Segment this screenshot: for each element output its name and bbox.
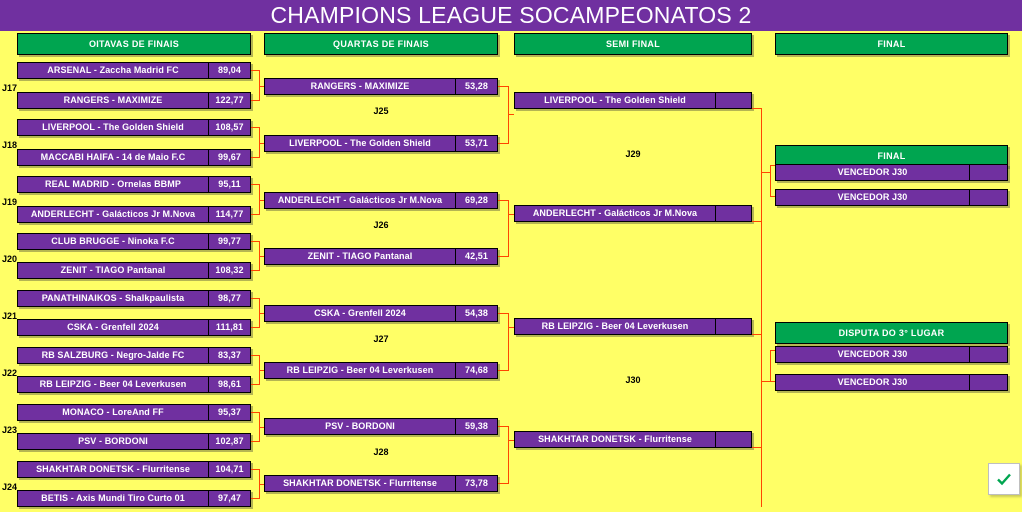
team-score: 122,77 — [208, 93, 250, 108]
match-row[interactable]: MACCABI HAIFA - 14 de Maio F.C 99,67 — [17, 149, 251, 166]
team-name: CSKA - Grenfell 2024 — [18, 320, 208, 335]
tie-label-j30: J30 — [514, 375, 752, 386]
tie-label-j28: J28 — [264, 447, 498, 458]
team-name: RANGERS - MAXIMIZE — [265, 79, 455, 94]
tie-label-j17: J17 — [2, 83, 17, 94]
team-name: SHAKHTAR DONETSK - Flurritense — [265, 476, 455, 491]
match-row[interactable]: RB LEIPZIG - Beer 04 Leverkusen — [514, 318, 752, 335]
tie-label-j26: J26 — [264, 220, 498, 231]
connector — [508, 86, 509, 144]
match-row[interactable]: RANGERS - MAXIMIZE 53,28 — [264, 78, 498, 95]
team-score: 99,67 — [208, 150, 250, 165]
match-row[interactable]: LIVERPOOL - The Golden Shield 53,71 — [264, 135, 498, 152]
connector — [770, 172, 771, 196]
team-score: 69,28 — [455, 193, 497, 208]
match-row[interactable]: PSV - BORDONI 102,87 — [17, 433, 251, 450]
confirm-button[interactable] — [988, 463, 1020, 495]
match-row[interactable]: ZENIT - TIAGO Pantanal 42,51 — [264, 248, 498, 265]
team-score — [715, 93, 751, 108]
title-bar: CHAMPIONS LEAGUE SOCAMPEONATOS 2 — [0, 0, 1022, 31]
tie-label-j22: J22 — [2, 368, 17, 379]
connector — [770, 350, 771, 358]
match-row[interactable]: RB SALZBURG - Negro-Jalde FC 83,37 — [17, 347, 251, 364]
team-score — [715, 206, 751, 221]
team-score: 95,11 — [208, 177, 250, 192]
team-name: LIVERPOOL - The Golden Shield — [265, 136, 455, 151]
team-score: 108,32 — [208, 263, 250, 278]
team-score: 98,61 — [208, 377, 250, 392]
connector — [508, 114, 514, 115]
match-row[interactable]: MONACO - LoreAnd FF 95,37 — [17, 404, 251, 421]
match-row[interactable]: VENCEDOR J30 — [775, 164, 1008, 181]
match-row[interactable]: RANGERS - MAXIMIZE 122,77 — [17, 92, 251, 109]
team-name: MONACO - LoreAnd FF — [18, 405, 208, 420]
team-score: 53,71 — [455, 136, 497, 151]
page-title: CHAMPIONS LEAGUE SOCAMPEONATOS 2 — [0, 0, 1022, 31]
connector — [508, 200, 509, 257]
match-row[interactable]: BETIS - Axis Mundi Tiro Curto 01 97,47 — [17, 490, 251, 507]
tie-label-j18: J18 — [2, 140, 17, 151]
team-score — [715, 432, 751, 447]
team-score — [715, 319, 751, 334]
tie-label-j20: J20 — [2, 254, 17, 265]
connector — [508, 313, 509, 371]
match-row[interactable]: PSV - BORDONI 59,38 — [264, 418, 498, 435]
third-place-panel-title: DISPUTA DO 3° LUGAR — [775, 322, 1008, 344]
team-name: ARSENAL - Zaccha Madrid FC — [18, 63, 208, 78]
team-name: SHAKHTAR DONETSK - Flurritense — [515, 432, 715, 447]
match-row[interactable]: SHAKHTAR DONETSK - Flurritense 73,78 — [264, 475, 498, 492]
team-name: RB LEIPZIG - Beer 04 Leverkusen — [18, 377, 208, 392]
connector — [761, 221, 762, 334]
match-row[interactable]: RB LEIPZIG - Beer 04 Leverkusen 98,61 — [17, 376, 251, 393]
team-name: MACCABI HAIFA - 14 de Maio F.C — [18, 150, 208, 165]
match-row[interactable]: VENCEDOR J30 — [775, 374, 1008, 391]
match-row[interactable]: ANDERLECHT - Galácticos Jr M.Nova 114,77 — [17, 206, 251, 223]
match-row[interactable]: SHAKHTAR DONETSK - Flurritense — [514, 431, 752, 448]
team-name: VENCEDOR J30 — [776, 347, 969, 362]
match-row[interactable]: LIVERPOOL - The Golden Shield 108,57 — [17, 119, 251, 136]
team-score: 99,77 — [208, 234, 250, 249]
match-row[interactable]: RB LEIPZIG - Beer 04 Leverkusen 74,68 — [264, 362, 498, 379]
tie-label-j25: J25 — [264, 106, 498, 117]
team-score: 42,51 — [455, 249, 497, 264]
team-name: BETIS - Axis Mundi Tiro Curto 01 — [18, 491, 208, 506]
match-row[interactable]: CSKA - Grenfell 2024 111,81 — [17, 319, 251, 336]
match-row[interactable]: ANDERLECHT - Galácticos Jr M.Nova 69,28 — [264, 192, 498, 209]
tie-label-j29: J29 — [514, 149, 752, 160]
round-header-semi-final: SEMI FINAL — [514, 33, 752, 55]
match-row[interactable]: PANATHINAIKOS - Shalkpaulista 98,77 — [17, 290, 251, 307]
bracket-app: CHAMPIONS LEAGUE SOCAMPEONATOS 2 OITAVAS… — [0, 0, 1022, 512]
team-score: 102,87 — [208, 434, 250, 449]
team-score: 59,38 — [455, 419, 497, 434]
team-score: 95,37 — [208, 405, 250, 420]
team-score: 73,78 — [455, 476, 497, 491]
team-name: PANATHINAIKOS - Shalkpaulista — [18, 291, 208, 306]
team-score: 74,68 — [455, 363, 497, 378]
round-header-round-of-16: OITAVAS DE FINAIS — [17, 33, 251, 55]
team-score: 89,04 — [208, 63, 250, 78]
team-name: RB LEIPZIG - Beer 04 Leverkusen — [515, 319, 715, 334]
team-score: 104,71 — [208, 462, 250, 477]
connector — [761, 447, 762, 507]
team-name: VENCEDOR J30 — [776, 165, 969, 180]
connector — [761, 334, 762, 448]
team-score: 114,77 — [208, 207, 250, 222]
match-row[interactable]: CLUB BRUGGE - Ninoka F.C 99,77 — [17, 233, 251, 250]
team-score: 108,57 — [208, 120, 250, 135]
team-score: 98,77 — [208, 291, 250, 306]
team-name: VENCEDOR J30 — [776, 190, 969, 205]
team-name: ANDERLECHT - Galácticos Jr M.Nova — [515, 206, 715, 221]
team-score — [969, 375, 1007, 390]
match-row[interactable]: VENCEDOR J30 — [775, 346, 1008, 363]
team-name: SHAKHTAR DONETSK - Flurritense — [18, 462, 208, 477]
team-score: 54,38 — [455, 306, 497, 321]
check-icon — [995, 470, 1013, 488]
team-name: CLUB BRUGGE - Ninoka F.C — [18, 234, 208, 249]
team-name: PSV - BORDONI — [18, 434, 208, 449]
team-name: RANGERS - MAXIMIZE — [18, 93, 208, 108]
connector — [761, 108, 762, 222]
match-row[interactable]: ANDERLECHT - Galácticos Jr M.Nova — [514, 205, 752, 222]
tie-label-j27: J27 — [264, 334, 498, 345]
team-name: CSKA - Grenfell 2024 — [265, 306, 455, 321]
match-row[interactable]: REAL MADRID - Ornelas BBMP 95,11 — [17, 176, 251, 193]
match-row[interactable]: ARSENAL - Zaccha Madrid FC 89,04 — [17, 62, 251, 79]
tie-label-j24: J24 — [2, 482, 17, 493]
round-header-quarter-finals: QUARTAS DE FINAIS — [264, 33, 498, 55]
team-score — [969, 347, 1007, 362]
tie-label-j23: J23 — [2, 425, 17, 436]
tie-label-j19: J19 — [2, 197, 17, 208]
team-score: 111,81 — [208, 320, 250, 335]
match-row[interactable]: LIVERPOOL - The Golden Shield — [514, 92, 752, 109]
team-name: VENCEDOR J30 — [776, 375, 969, 390]
team-name: ANDERLECHT - Galácticos Jr M.Nova — [265, 193, 455, 208]
connector — [770, 165, 771, 173]
team-name: LIVERPOOL - The Golden Shield — [515, 93, 715, 108]
match-row[interactable]: ZENIT - TIAGO Pantanal 108,32 — [17, 262, 251, 279]
team-name: LIVERPOOL - The Golden Shield — [18, 120, 208, 135]
team-score: 97,47 — [208, 491, 250, 506]
match-row[interactable]: VENCEDOR J30 — [775, 189, 1008, 206]
match-row[interactable]: SHAKHTAR DONETSK - Flurritense 104,71 — [17, 461, 251, 478]
team-name: PSV - BORDONI — [265, 419, 455, 434]
tie-label-j21: J21 — [2, 311, 17, 322]
team-name: ZENIT - TIAGO Pantanal — [18, 263, 208, 278]
team-name: ANDERLECHT - Galácticos Jr M.Nova — [18, 207, 208, 222]
team-score — [969, 190, 1007, 205]
team-score — [969, 165, 1007, 180]
round-header-final: FINAL — [775, 33, 1008, 55]
team-name: REAL MADRID - Ornelas BBMP — [18, 177, 208, 192]
team-score: 53,28 — [455, 79, 497, 94]
match-row[interactable]: CSKA - Grenfell 2024 54,38 — [264, 305, 498, 322]
team-name: RB SALZBURG - Negro-Jalde FC — [18, 348, 208, 363]
connector — [508, 426, 509, 484]
team-name: ZENIT - TIAGO Pantanal — [265, 249, 455, 264]
team-score: 83,37 — [208, 348, 250, 363]
connector — [770, 357, 771, 382]
team-name: RB LEIPZIG - Beer 04 Leverkusen — [265, 363, 455, 378]
